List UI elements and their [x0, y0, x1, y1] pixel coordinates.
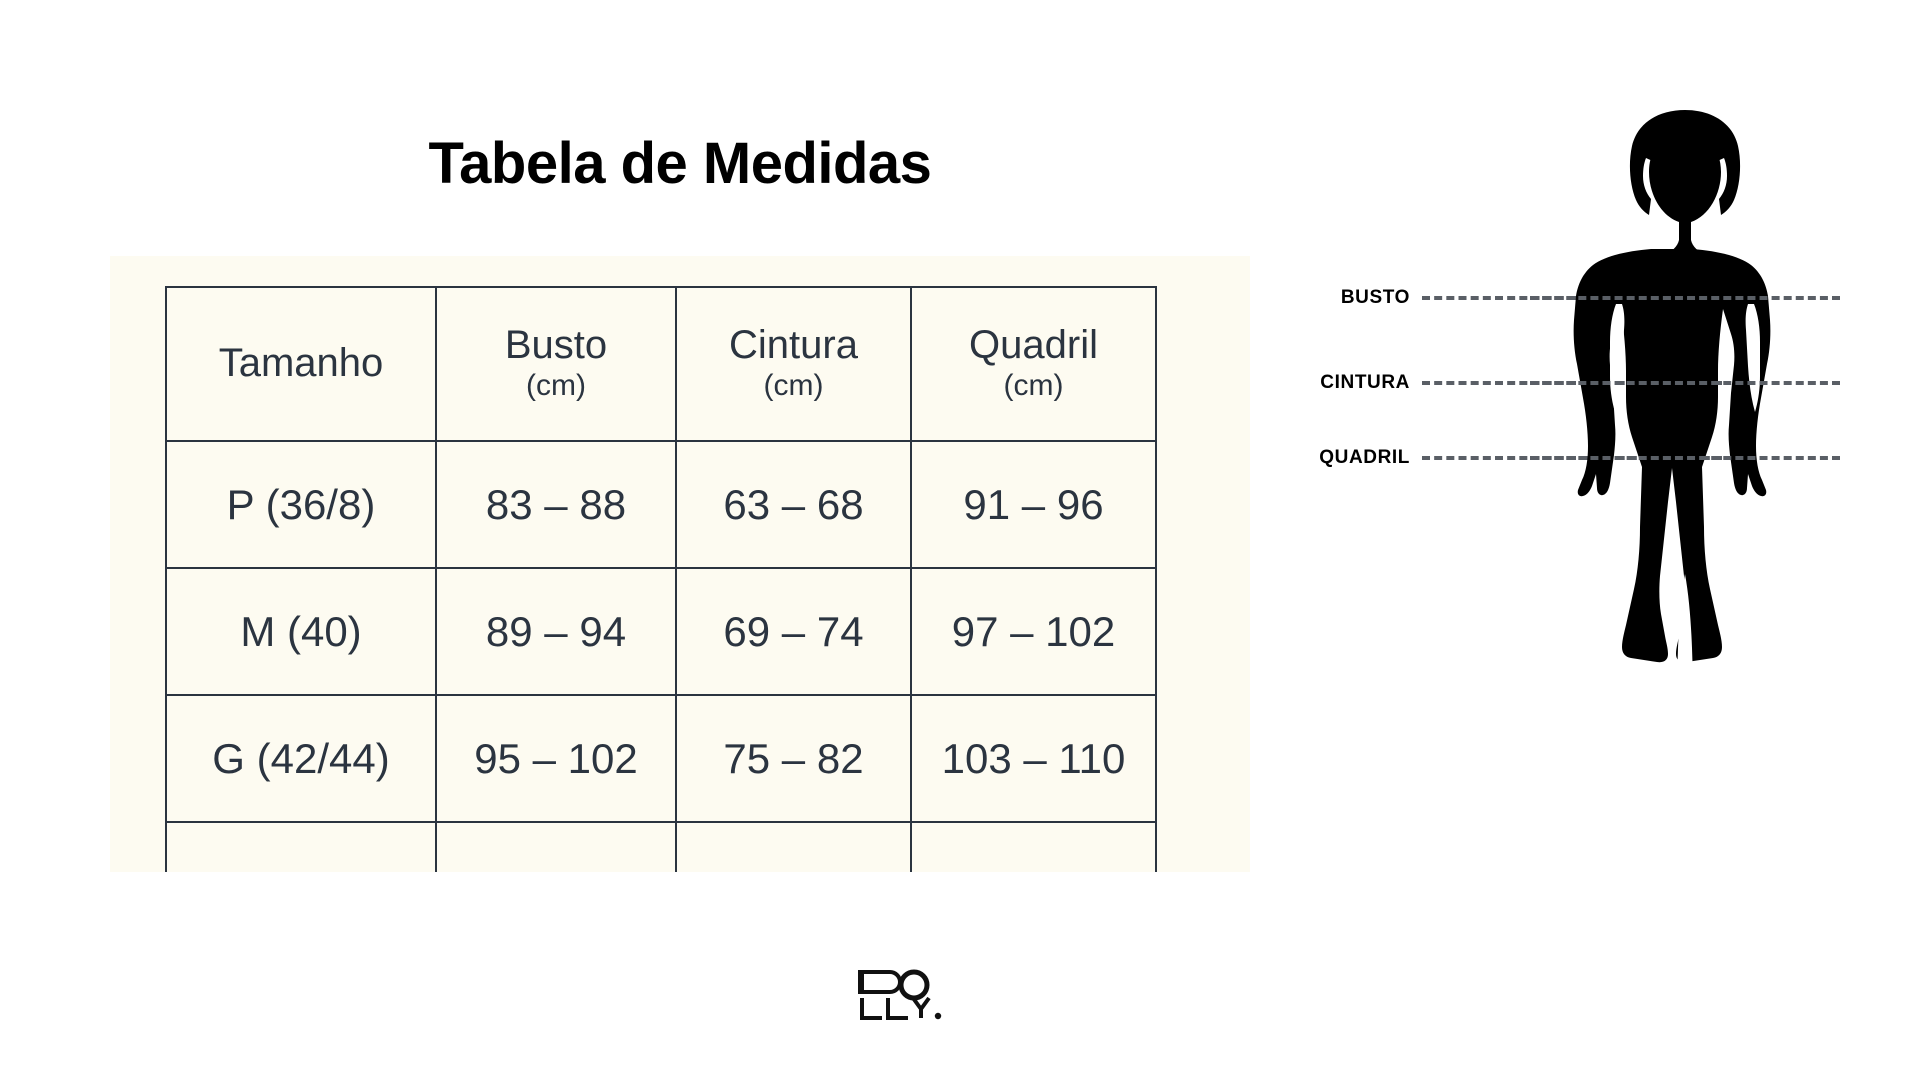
size-table-panel: Tamanho Busto (cm) Cintura (cm) Quadril …: [110, 256, 1250, 872]
cell-busto: [436, 822, 676, 872]
cell-quadril: 103 – 110: [911, 695, 1156, 822]
column-header-quadril: Quadril (cm): [911, 287, 1156, 441]
table-row: G (42/44) 95 – 102 75 – 82 103 – 110: [166, 695, 1156, 822]
page-title: Tabela de Medidas: [110, 132, 1250, 196]
column-header-busto: Busto (cm): [436, 287, 676, 441]
cell-quadril: 91 – 96: [911, 441, 1156, 568]
cell-cintura: [676, 822, 911, 872]
cell-quadril: 97 – 102: [911, 568, 1156, 695]
column-header-cintura-label: Cintura: [729, 323, 858, 367]
body-measurement-diagram: BUSTO CINTURA QUADRIL: [1250, 0, 1920, 1080]
column-header-quadril-label: Quadril: [969, 323, 1098, 367]
table-header-row: Tamanho Busto (cm) Cintura (cm) Quadril …: [166, 287, 1156, 441]
column-header-busto-unit: (cm): [437, 367, 675, 405]
cell-size: M (40): [166, 568, 436, 695]
column-header-quadril-unit: (cm): [912, 367, 1155, 405]
cell-size: P (36/8): [166, 441, 436, 568]
cell-size: [166, 822, 436, 872]
cell-busto: 89 – 94: [436, 568, 676, 695]
cell-size: G (42/44): [166, 695, 436, 822]
column-header-busto-label: Busto: [505, 323, 607, 367]
column-header-cintura-unit: (cm): [677, 367, 910, 405]
cell-cintura: 69 – 74: [676, 568, 911, 695]
measure-label-quadril: QUADRIL: [1250, 447, 1410, 469]
female-body-silhouette-icon: [1530, 108, 1840, 800]
cell-quadril: [911, 822, 1156, 872]
size-table: Tamanho Busto (cm) Cintura (cm) Quadril …: [165, 286, 1157, 872]
measure-label-busto: BUSTO: [1250, 287, 1410, 309]
table-body: P (36/8) 83 – 88 63 – 68 91 – 96 M (40) …: [166, 441, 1156, 872]
table-row: P (36/8) 83 – 88 63 – 68 91 – 96: [166, 441, 1156, 568]
polly-logo-icon: [856, 968, 946, 1024]
cell-busto: 83 – 88: [436, 441, 676, 568]
column-header-tamanho: Tamanho: [166, 287, 436, 441]
measure-dash-busto-overlay: [1530, 296, 1840, 300]
column-header-tamanho-label: Tamanho: [219, 341, 384, 385]
table-row-clipped: [166, 822, 1156, 872]
measure-dash-quadril-overlay: [1530, 456, 1840, 460]
cell-busto: 95 – 102: [436, 695, 676, 822]
size-table-container: Tamanho Busto (cm) Cintura (cm) Quadril …: [165, 286, 1155, 872]
table-row: M (40) 89 – 94 69 – 74 97 – 102: [166, 568, 1156, 695]
cell-cintura: 63 – 68: [676, 441, 911, 568]
column-header-cintura: Cintura (cm): [676, 287, 911, 441]
polly-logo: [856, 968, 946, 1024]
measure-dash-cintura-overlay: [1530, 381, 1840, 385]
measure-label-cintura: CINTURA: [1250, 372, 1410, 394]
cell-cintura: 75 – 82: [676, 695, 911, 822]
table-header: Tamanho Busto (cm) Cintura (cm) Quadril …: [166, 287, 1156, 441]
